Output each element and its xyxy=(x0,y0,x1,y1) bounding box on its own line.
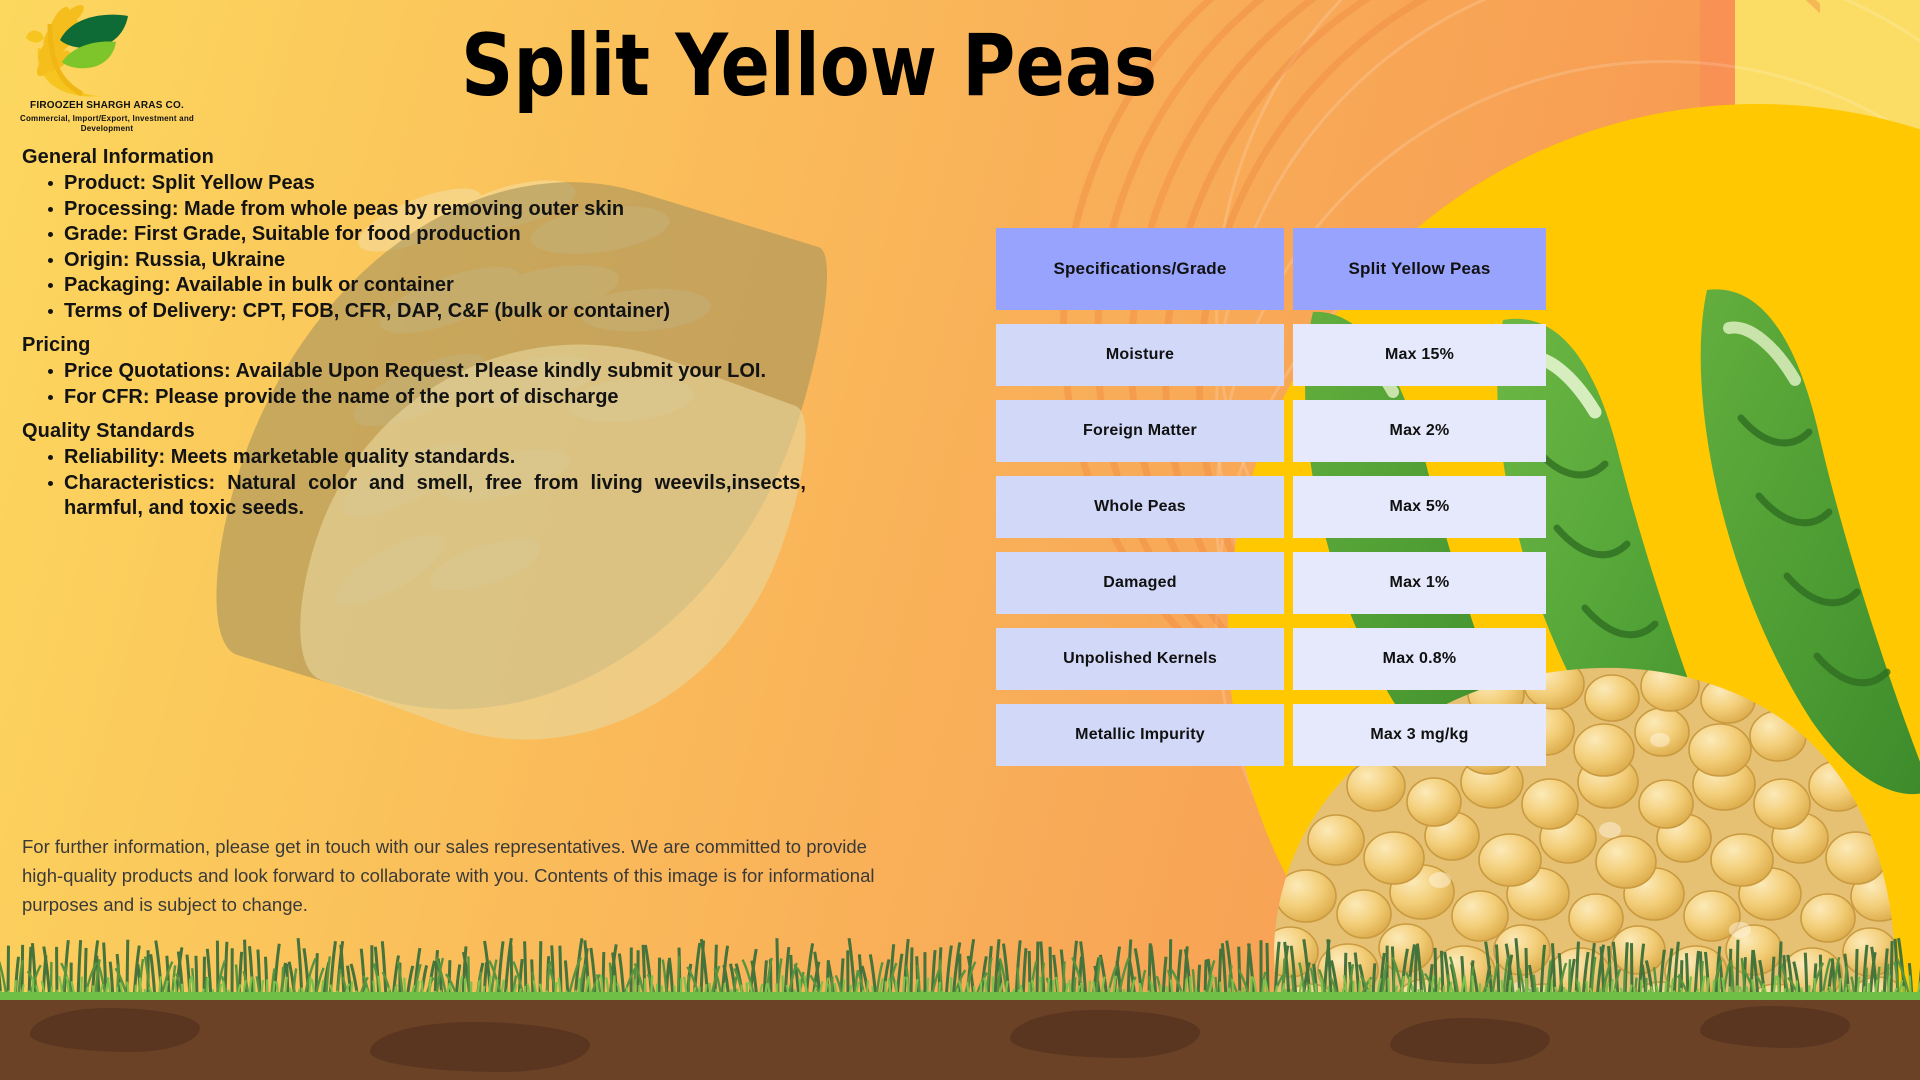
table-cell-label: Metallic Impurity xyxy=(996,704,1284,766)
list-item: Price Quotations: Available Upon Request… xyxy=(30,359,812,385)
list-general-information: Product: Split Yellow Peas Processing: M… xyxy=(30,171,812,324)
list-item: Product: Split Yellow Peas xyxy=(30,171,812,197)
table-row: Unpolished KernelsMax 0.8% xyxy=(996,628,1566,690)
table-cell-value: Max 15% xyxy=(1293,324,1546,386)
list-item: For CFR: Please provide the name of the … xyxy=(30,385,812,411)
list-item: Origin: Russia, Ukraine xyxy=(30,248,812,274)
specifications-table: Specifications/GradeSplit Yellow PeasMoi… xyxy=(996,228,1566,780)
list-item: Processing: Made from whole peas by remo… xyxy=(30,197,812,223)
soil-band xyxy=(0,1000,1920,1080)
company-tagline: Commercial, Import/Export, Investment an… xyxy=(4,114,210,134)
table-cell-value: Max 0.8% xyxy=(1293,628,1546,690)
company-name: FIROOZEH SHARGH ARAS CO. xyxy=(4,100,210,113)
disclaimer-note: For further information, please get in t… xyxy=(22,832,902,919)
table-cell-label: Whole Peas xyxy=(996,476,1284,538)
table-cell-label: Foreign Matter xyxy=(996,400,1284,462)
table-row: Whole PeasMax 5% xyxy=(996,476,1566,538)
table-row: MoistureMax 15% xyxy=(996,324,1566,386)
list-item: Characteristics: Natural color and smell… xyxy=(30,471,812,522)
table-row: DamagedMax 1% xyxy=(996,552,1566,614)
page-title: Split Yellow Peas xyxy=(461,18,1119,114)
table-row: Metallic ImpurityMax 3 mg/kg xyxy=(996,704,1566,766)
section-heading-pricing: Pricing xyxy=(22,334,812,357)
table-header-product: Split Yellow Peas xyxy=(1293,228,1546,310)
information-content: General Information Product: Split Yello… xyxy=(22,146,812,522)
wheat-leaf-logo-icon xyxy=(20,4,150,100)
list-quality-standards: Reliability: Meets marketable quality st… xyxy=(30,445,812,522)
list-item: Grade: First Grade, Suitable for food pr… xyxy=(30,222,812,248)
list-pricing: Price Quotations: Available Upon Request… xyxy=(30,359,812,410)
table-header-row: Specifications/GradeSplit Yellow Peas xyxy=(996,228,1566,310)
table-header-specifications: Specifications/Grade xyxy=(996,228,1284,310)
table-cell-value: Max 5% xyxy=(1293,476,1546,538)
table-cell-label: Moisture xyxy=(996,324,1284,386)
section-heading-general: General Information xyxy=(22,146,812,169)
list-item: Terms of Delivery: CPT, FOB, CFR, DAP, C… xyxy=(30,299,812,325)
table-cell-value: Max 3 mg/kg xyxy=(1293,704,1546,766)
poster-canvas: FIROOZEH SHARGH ARAS CO. Commercial, Imp… xyxy=(0,0,1920,1080)
table-cell-value: Max 2% xyxy=(1293,400,1546,462)
grass-band-icon xyxy=(0,930,1920,1002)
company-logo: FIROOZEH SHARGH ARAS CO. Commercial, Imp… xyxy=(0,4,215,129)
list-item: Reliability: Meets marketable quality st… xyxy=(30,445,812,471)
table-cell-label: Unpolished Kernels xyxy=(996,628,1284,690)
list-item: Packaging: Available in bulk or containe… xyxy=(30,273,812,299)
table-row: Foreign MatterMax 2% xyxy=(996,400,1566,462)
table-cell-label: Damaged xyxy=(996,552,1284,614)
table-cell-value: Max 1% xyxy=(1293,552,1546,614)
section-heading-quality: Quality Standards xyxy=(22,420,812,443)
